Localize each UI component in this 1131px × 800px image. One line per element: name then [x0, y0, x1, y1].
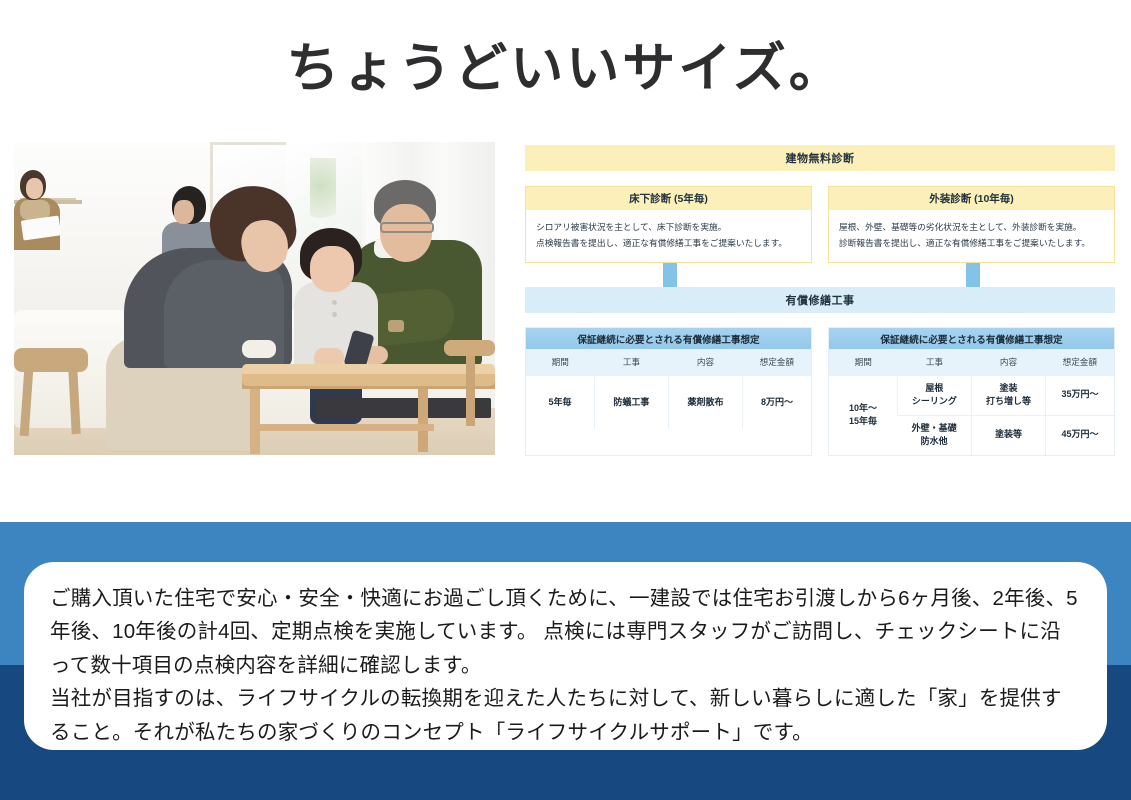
cell-period: 10年～ 15年毎 — [829, 375, 897, 455]
inspection-card-exterior-body: 屋根、外壁、基礎等の劣化状況を主として、外装診断を実施。 診断報告書を提出し、適… — [829, 210, 1114, 262]
cell-work: 防蟻工事 — [594, 375, 668, 429]
diagram-tables: 保証継続に必要とされる有償修繕工事想定 期間 工事 内容 想定金額 5年毎 — [525, 327, 1115, 456]
inspection-card-floor-line-2: 点検報告書を提出し、適正な有償修繕工事をご提案いたします。 — [536, 235, 801, 251]
warranty-diagram: 建物無料診断 床下診断 (5年毎) シロアリ被害状況を主として、床下診断を実施。… — [525, 145, 1115, 465]
note-card: ご購入頂いた住宅で安心・安全・快適にお過ごし頂くために、一建設では住宅お引渡しか… — [24, 562, 1107, 750]
inspection-card-floor: 床下診断 (5年毎) シロアリ被害状況を主として、床下診断を実施。 点検報告書を… — [525, 186, 812, 263]
diagram-inspection-cards: 床下診断 (5年毎) シロアリ被害状況を主として、床下診断を実施。 点検報告書を… — [525, 186, 1115, 263]
inspection-card-exterior-line-2: 診断報告書を提出し、適正な有償修繕工事をご提案いたします。 — [839, 235, 1104, 251]
page-root: ちょうどいいサイズ。 — [0, 0, 1131, 800]
cell-work-line-1: 外壁・基礎 — [912, 423, 957, 433]
diagram-column-left: 床下診断 (5年毎) シロアリ被害状況を主として、床下診断を実施。 点検報告書を… — [525, 186, 812, 263]
photo-background-man-face — [174, 200, 194, 224]
column-header-period: 期間 — [829, 349, 897, 375]
photo-background-woman-face — [26, 178, 43, 199]
diagram-top-band: 建物無料診断 — [525, 145, 1115, 171]
note-paragraph-2: 当社が目指すのは、ライフサイクルの転換期を迎えた人たちに対して、新しい暮らしに適… — [50, 682, 1081, 749]
photo-grandfather-glasses — [380, 222, 434, 233]
cell-period-line-2: 15年毎 — [849, 416, 877, 426]
table-row: 5年毎 防蟻工事 薬剤散布 8万円～ — [526, 375, 811, 429]
column-header-period: 期間 — [526, 349, 594, 375]
photo-chair-leg-right — [466, 354, 475, 426]
inspection-card-floor-body: シロアリ被害状況を主として、床下診断を実施。 点検報告書を提出し、適正な有償修繕… — [526, 210, 811, 262]
photo-child-button-top — [332, 300, 337, 305]
photo-table-shelf — [316, 398, 491, 418]
column-header-detail: 内容 — [668, 349, 742, 375]
cell-amount: 8万円～ — [743, 375, 811, 429]
photo-table-top-highlight — [242, 364, 495, 374]
cell-work: 外壁・基礎 防水他 — [897, 415, 971, 455]
table-header-row: 期間 工事 内容 想定金額 — [526, 349, 811, 375]
cell-detail-line-2: 打ち増し等 — [986, 396, 1031, 406]
column-header-amount: 想定金額 — [743, 349, 811, 375]
photo-table-leg-right — [418, 386, 428, 452]
cell-detail: 塗装等 — [971, 415, 1045, 455]
photo-grandfather-watch — [388, 320, 404, 332]
inspection-card-exterior: 外装診断 (10年毎) 屋根、外壁、基礎等の劣化状況を主として、外装診断を実施。… — [828, 186, 1115, 263]
cell-amount: 45万円～ — [1046, 415, 1114, 455]
column-header-amount: 想定金額 — [1046, 349, 1114, 375]
table-header-row: 期間 工事 内容 想定金額 — [829, 349, 1114, 375]
repair-table-exterior-grid: 期間 工事 内容 想定金額 10年～ 15年毎 — [829, 349, 1114, 455]
column-header-work: 工事 — [897, 349, 971, 375]
photo-grandfather-face — [380, 204, 432, 262]
table-row: 10年～ 15年毎 屋根 シーリング 塗装 打ち増し等 35万 — [829, 375, 1114, 415]
photo-chair-armrest-right — [444, 340, 495, 356]
note-paragraph-1: ご購入頂いた住宅で安心・安全・快適にお過ごし頂くために、一建設では住宅お引渡しか… — [50, 582, 1081, 682]
photo-table-leg-left — [250, 386, 260, 454]
cell-detail: 薬剤散布 — [668, 375, 742, 429]
repair-table-floor-grid: 期間 工事 内容 想定金額 5年毎 防蟻工事 薬剤散布 8万円～ — [526, 349, 811, 429]
cell-work-line-2: シーリング — [912, 396, 957, 406]
cell-work-line-2: 防水他 — [921, 436, 948, 446]
cell-period-line-1: 10年～ — [849, 403, 877, 413]
cell-amount: 35万円～ — [1046, 375, 1114, 415]
cell-detail: 塗装 打ち増し等 — [971, 375, 1045, 415]
repair-table-floor-heading: 保証継続に必要とされる有償修繕工事想定 — [526, 328, 811, 349]
inspection-card-exterior-line-1: 屋根、外壁、基礎等の劣化状況を主として、外装診断を実施。 — [839, 219, 1104, 235]
cell-work: 屋根 シーリング — [897, 375, 971, 415]
repair-table-floor: 保証継続に必要とされる有償修繕工事想定 期間 工事 内容 想定金額 5年毎 — [525, 327, 812, 456]
diagram-column-right: 外装診断 (10年毎) 屋根、外壁、基礎等の劣化状況を主として、外装診断を実施。… — [828, 186, 1115, 263]
photo-greenery — [310, 158, 336, 228]
photo-grandmother-cuff — [242, 340, 276, 358]
inspection-card-floor-heading: 床下診断 (5年毎) — [526, 187, 811, 210]
family-photo — [14, 142, 495, 455]
cell-work-line-1: 屋根 — [925, 383, 943, 393]
diagram-mid-band: 有償修繕工事 — [525, 287, 1115, 313]
photo-table-rail — [254, 424, 434, 431]
cell-period: 5年毎 — [526, 375, 594, 429]
cell-detail-line-1: 塗装 — [1000, 383, 1018, 393]
repair-table-exterior: 保証継続に必要とされる有償修繕工事想定 期間 工事 内容 想定金額 — [828, 327, 1115, 456]
page-title: ちょうどいいサイズ。 — [0, 36, 1131, 102]
photo-child-button-bottom — [332, 312, 337, 317]
column-header-detail: 内容 — [971, 349, 1045, 375]
inspection-card-exterior-heading: 外装診断 (10年毎) — [829, 187, 1114, 210]
inspection-card-floor-line-1: シロアリ被害状況を主として、床下診断を実施。 — [536, 219, 801, 235]
photo-child-face — [310, 246, 354, 292]
column-header-work: 工事 — [594, 349, 668, 375]
repair-table-exterior-heading: 保証継続に必要とされる有償修繕工事想定 — [829, 328, 1114, 349]
